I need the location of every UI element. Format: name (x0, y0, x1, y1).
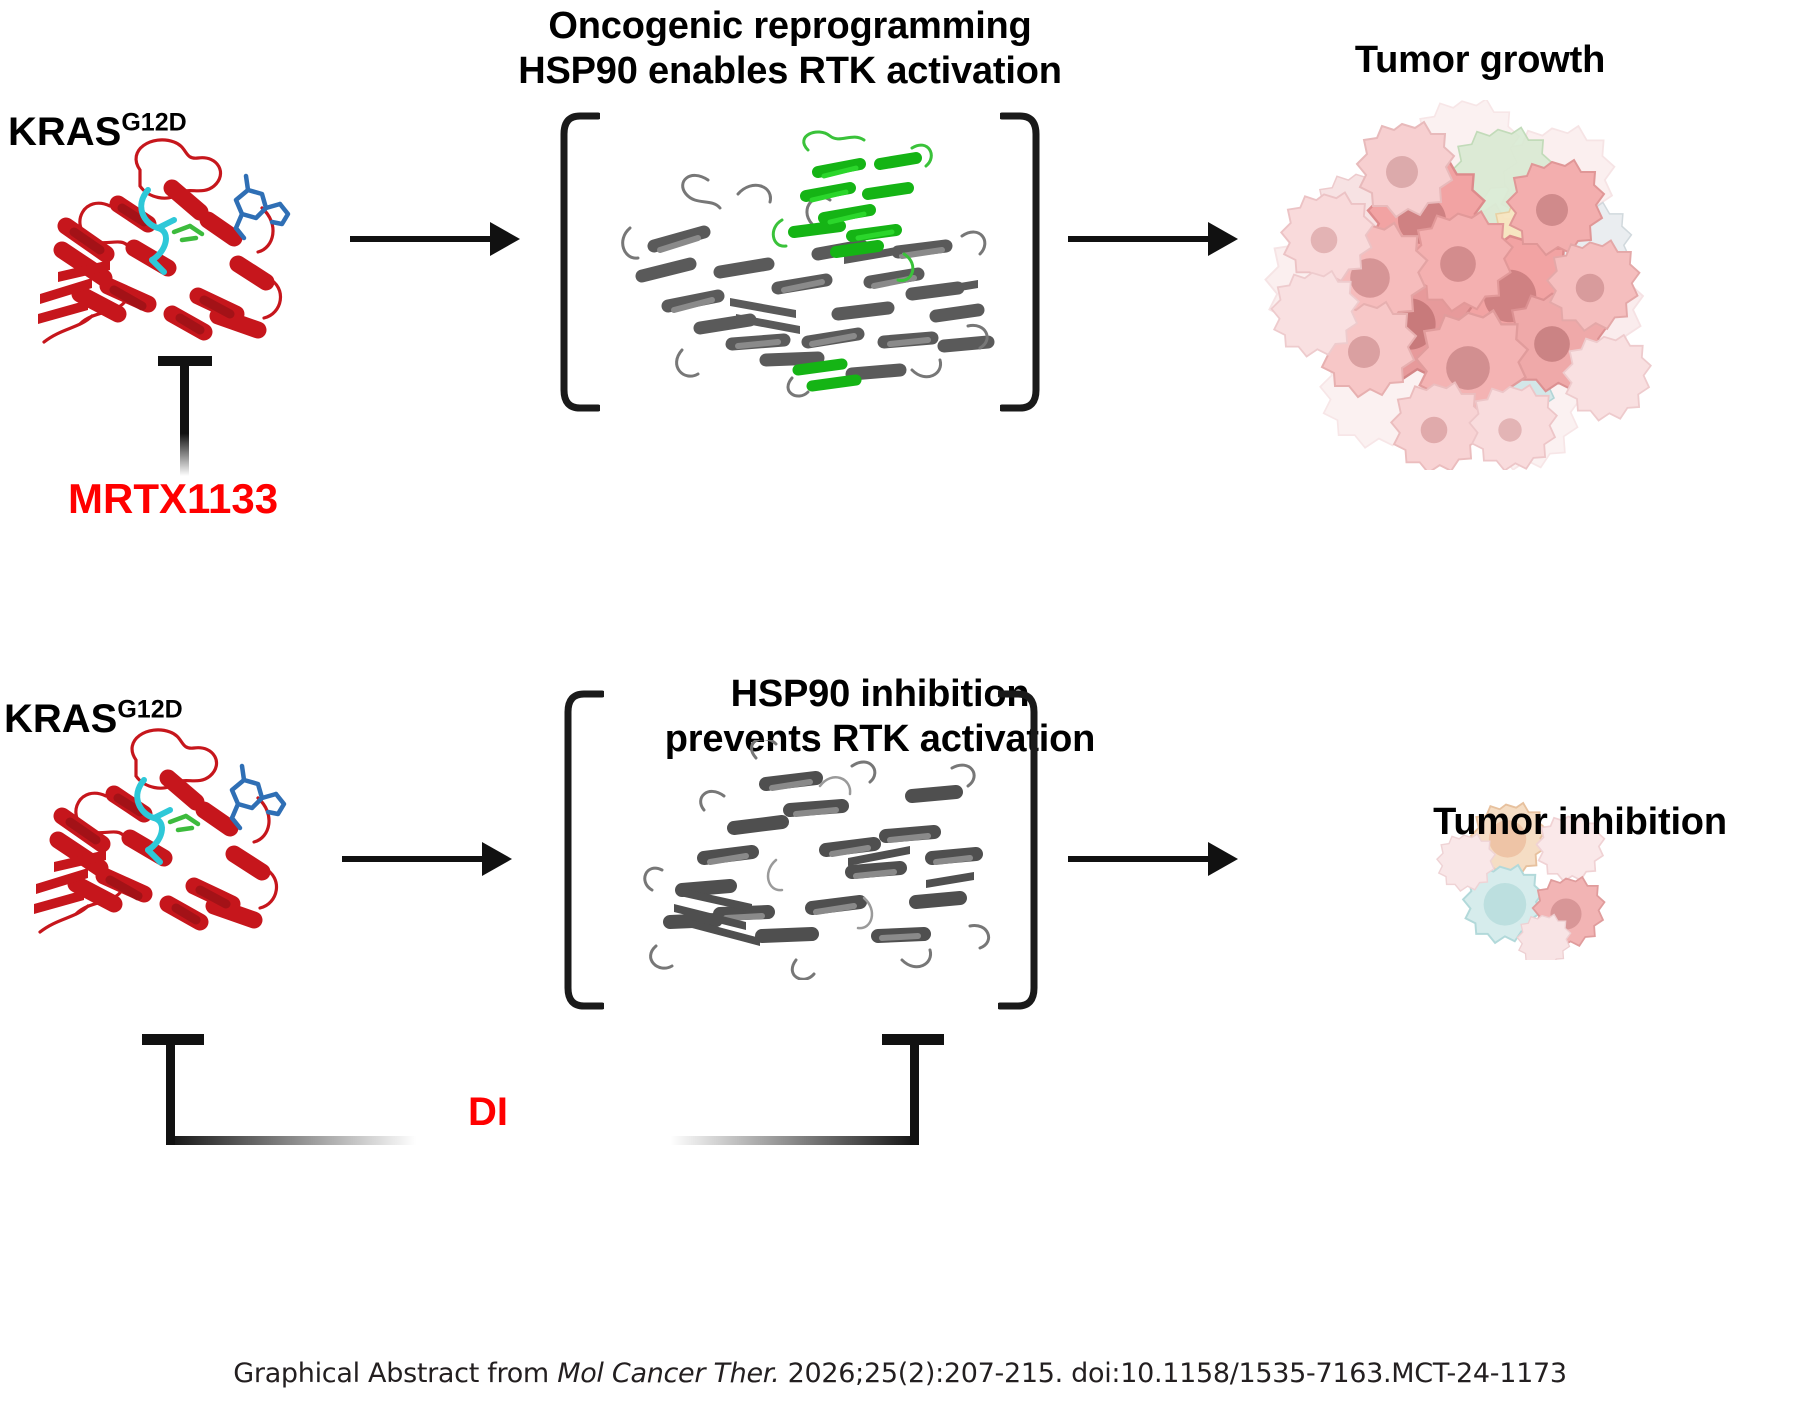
right-arrow-icon (1068, 836, 1238, 882)
bracket-left-icon (558, 112, 600, 412)
kras-protein-ribbon-icon (18, 718, 338, 958)
tumor-growth-label: Tumor growth (1310, 38, 1650, 83)
citation-suffix: 2026;25(2):207-215. doi:10.1158/1535-716… (779, 1358, 1566, 1389)
mrtx1133-label: MRTX1133 (68, 475, 278, 523)
right-arrow-icon (1068, 216, 1238, 262)
bracket-left-icon (562, 690, 604, 1010)
tumor-cell-cluster-icon (1252, 100, 1652, 470)
citation-line: Graphical Abstract from Mol Cancer Ther.… (0, 1358, 1800, 1389)
top-heading-line-1: Oncogenic reprogramming (430, 4, 1150, 49)
tumor-inhibition-label: Tumor inhibition (1370, 800, 1790, 845)
inhibition-tee-icon (130, 356, 240, 476)
right-arrow-icon (350, 216, 520, 262)
hsp90-complex-ribbon-icon (616, 740, 1006, 980)
top-heading-line-2: HSP90 enables RTK activation (430, 49, 1150, 94)
hsp90-complex-ribbon-icon (612, 128, 1002, 398)
right-arrow-icon (342, 836, 512, 882)
citation-journal: Mol Cancer Ther. (557, 1358, 779, 1389)
kras-protein-ribbon-icon (22, 128, 342, 368)
top-row-heading: Oncogenic reprogramming HSP90 enables RT… (430, 4, 1150, 94)
di-label: DI (468, 1090, 508, 1135)
dual-inhibition-bracket (130, 1034, 960, 1164)
citation-prefix: Graphical Abstract from (233, 1358, 557, 1389)
bracket-right-icon (1000, 112, 1042, 412)
bracket-right-icon (998, 690, 1040, 1010)
bottom-heading-line-1: HSP90 inhibition (560, 672, 1200, 717)
